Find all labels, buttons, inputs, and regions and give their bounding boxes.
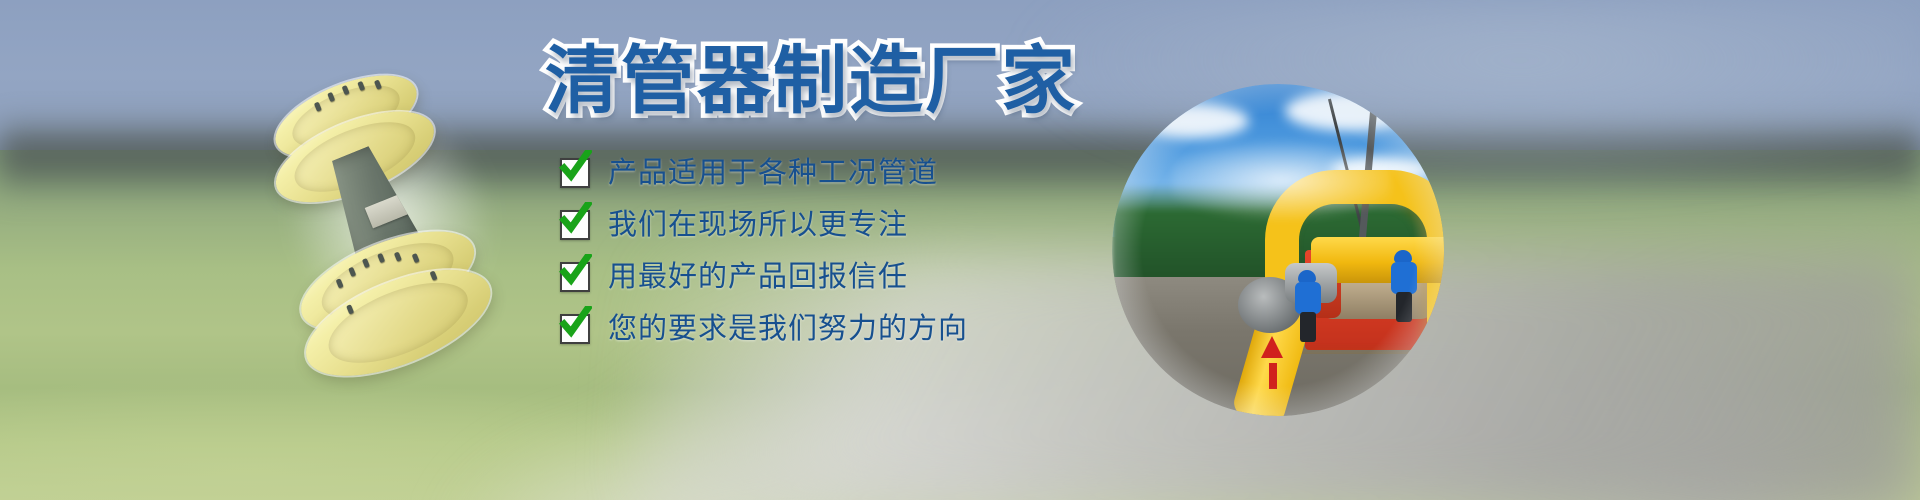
- gas-pipeline-site-photo: [1112, 84, 1444, 416]
- green-check-icon: [560, 262, 590, 292]
- green-check-icon: [560, 314, 590, 344]
- green-check-icon: [560, 158, 590, 188]
- feature-label: 我们在现场所以更专注: [608, 211, 908, 240]
- promo-banner: 清管器制造厂家 产品适用于各种工况管道 我们在现场所以更专注: [0, 0, 1920, 500]
- feature-list: 产品适用于各种工况管道 我们在现场所以更专注 用最好的产品回报信任: [560, 158, 968, 344]
- feature-label: 用最好的产品回报信任: [608, 263, 908, 292]
- photo-vignette: [1112, 84, 1444, 416]
- green-check-icon: [560, 210, 590, 240]
- feature-label: 产品适用于各种工况管道: [608, 159, 938, 188]
- banner-headline: 清管器制造厂家: [545, 44, 1077, 118]
- feature-item: 用最好的产品回报信任: [560, 262, 968, 292]
- feature-item: 产品适用于各种工况管道: [560, 158, 968, 188]
- feature-item: 您的要求是我们努力的方向: [560, 314, 968, 344]
- feature-label: 您的要求是我们努力的方向: [608, 315, 968, 344]
- feature-item: 我们在现场所以更专注: [560, 210, 968, 240]
